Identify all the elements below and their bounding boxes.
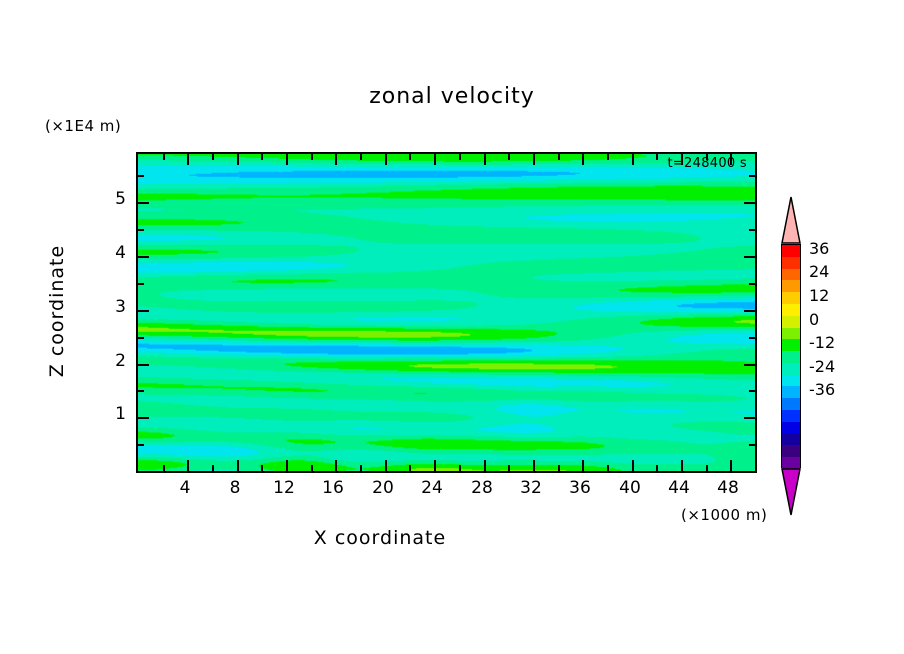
x-axis-tick [163, 465, 165, 471]
colorbar-band [782, 410, 800, 422]
x-axis-tick [286, 460, 288, 471]
x-axis-tick [434, 154, 436, 165]
colorbar-band [782, 386, 800, 398]
page-title: zonal velocity [0, 84, 904, 109]
colorbar-band [782, 398, 800, 410]
colorbar: 3624120-12-24-36 [781, 196, 801, 516]
y-axis-tick [744, 364, 755, 366]
y-axis-tick [138, 337, 144, 339]
figure-canvas: zonal velocity (×1E4 m) t=248400 s 48121… [0, 0, 904, 654]
x-axis-tick [607, 465, 609, 471]
x-axis-tick-label: 36 [560, 478, 600, 498]
x-axis-tick [409, 154, 411, 160]
x-axis-tick [533, 154, 535, 165]
colorbar-band [782, 434, 800, 446]
x-axis-title: X coordinate [0, 527, 760, 549]
colorbar-band [782, 422, 800, 434]
y-axis-tick [138, 444, 144, 446]
x-axis-tick [656, 154, 658, 160]
x-axis-tick-label: 24 [412, 478, 452, 498]
colorbar-tick-label: 12 [809, 286, 829, 305]
y-axis-tick [744, 310, 755, 312]
contour-field [138, 154, 755, 471]
x-axis-tick [212, 154, 214, 160]
x-axis-tick [706, 465, 708, 471]
colorbar-band [782, 445, 800, 457]
x-axis-tick-label: 40 [610, 478, 650, 498]
colorbar-tick-label: 0 [809, 310, 819, 329]
x-axis-tick [163, 154, 165, 160]
x-axis-tick [484, 460, 486, 471]
x-axis-tick [582, 460, 584, 471]
y-axis-tick [749, 175, 755, 177]
x-axis-tick [311, 465, 313, 471]
x-axis-tick [558, 154, 560, 160]
y-axis-tick [749, 444, 755, 446]
y-axis-tick [744, 417, 755, 419]
y-axis-tick [744, 256, 755, 258]
x-axis-tick [385, 154, 387, 165]
y-axis-tick [749, 337, 755, 339]
x-axis-tick-label: 32 [511, 478, 551, 498]
colorbar-under-cap [781, 468, 801, 516]
x-axis-tick-label: 4 [165, 478, 205, 498]
colorbar-band [782, 339, 800, 351]
x-axis-tick-label: 16 [313, 478, 353, 498]
colorbar-band [782, 375, 800, 387]
y-axis-tick [138, 283, 144, 285]
x-axis-tick [261, 465, 263, 471]
colorbar-bands [781, 244, 801, 468]
y-axis-tick [138, 229, 144, 231]
y-axis-tick [749, 229, 755, 231]
colorbar-band [782, 328, 800, 340]
x-axis-tick [311, 154, 313, 160]
y-axis-tick [138, 417, 149, 419]
x-axis-tick [360, 465, 362, 471]
x-axis-tick [508, 465, 510, 471]
x-axis-tick [558, 465, 560, 471]
y-axis-tick-label: 2 [96, 351, 126, 371]
colorbar-tick-label: -12 [809, 333, 835, 352]
x-axis-tick [632, 460, 634, 471]
x-axis-tick-label: 20 [363, 478, 403, 498]
y-axis-tick [138, 390, 144, 392]
colorbar-band [782, 292, 800, 304]
colorbar-band [782, 363, 800, 375]
colorbar-band [782, 351, 800, 363]
y-axis-tick [138, 256, 149, 258]
x-axis-tick [261, 154, 263, 160]
colorbar-tick-label: -24 [809, 357, 835, 376]
colorbar-band [782, 257, 800, 269]
colorbar-band [782, 280, 800, 292]
x-axis-tick [533, 460, 535, 471]
x-axis-tick-label: 12 [264, 478, 304, 498]
x-axis-tick [286, 154, 288, 165]
colorbar-band [782, 269, 800, 281]
x-axis-tick [385, 460, 387, 471]
y-axis-tick-label: 4 [96, 243, 126, 263]
x-axis-tick [484, 154, 486, 165]
x-axis-tick [409, 465, 411, 471]
y-axis-tick-label: 3 [96, 297, 126, 317]
x-axis-tick [212, 465, 214, 471]
x-axis-tick [582, 154, 584, 165]
y-axis-tick [138, 364, 149, 366]
colorbar-band [782, 316, 800, 328]
x-axis-tick [335, 460, 337, 471]
x-axis-tick [237, 154, 239, 165]
colorbar-band [782, 245, 800, 257]
colorbar-over-cap [781, 196, 801, 244]
y-axis-tick [749, 390, 755, 392]
y-axis-tick [744, 202, 755, 204]
x-axis-tick [459, 154, 461, 160]
y-axis-tick-label: 5 [96, 189, 126, 209]
y-axis-unit-label: (×1E4 m) [45, 117, 121, 135]
colorbar-tick-label: -36 [809, 380, 835, 399]
x-axis-tick [730, 460, 732, 471]
x-axis-tick [335, 154, 337, 165]
x-axis-tick [508, 154, 510, 160]
x-axis-tick [607, 154, 609, 160]
x-axis-tick [187, 460, 189, 471]
colorbar-tick-label: 36 [809, 239, 829, 258]
x-axis-tick [360, 154, 362, 160]
x-axis-tick [632, 154, 634, 165]
colorbar-tick-label: 24 [809, 262, 829, 281]
y-axis-tick-label: 1 [96, 404, 126, 424]
y-axis-tick [749, 283, 755, 285]
x-axis-tick [434, 460, 436, 471]
x-axis-tick-label: 28 [462, 478, 502, 498]
x-axis-tick [681, 460, 683, 471]
contour-plot-area: t=248400 s [136, 152, 757, 473]
x-axis-tick [459, 465, 461, 471]
y-axis-tick [138, 310, 149, 312]
y-axis-title: Z coordinate [46, 211, 68, 411]
y-axis-tick [138, 175, 144, 177]
timestamp-label: t=248400 s [667, 156, 747, 171]
y-axis-tick [138, 202, 149, 204]
x-axis-tick-label: 8 [215, 478, 255, 498]
colorbar-band [782, 304, 800, 316]
x-axis-tick-label: 48 [708, 478, 748, 498]
x-axis-tick [237, 460, 239, 471]
x-axis-tick-label: 44 [659, 478, 699, 498]
x-axis-tick [656, 465, 658, 471]
x-axis-tick [187, 154, 189, 165]
x-axis-unit-label: (×1000 m) [681, 506, 767, 524]
